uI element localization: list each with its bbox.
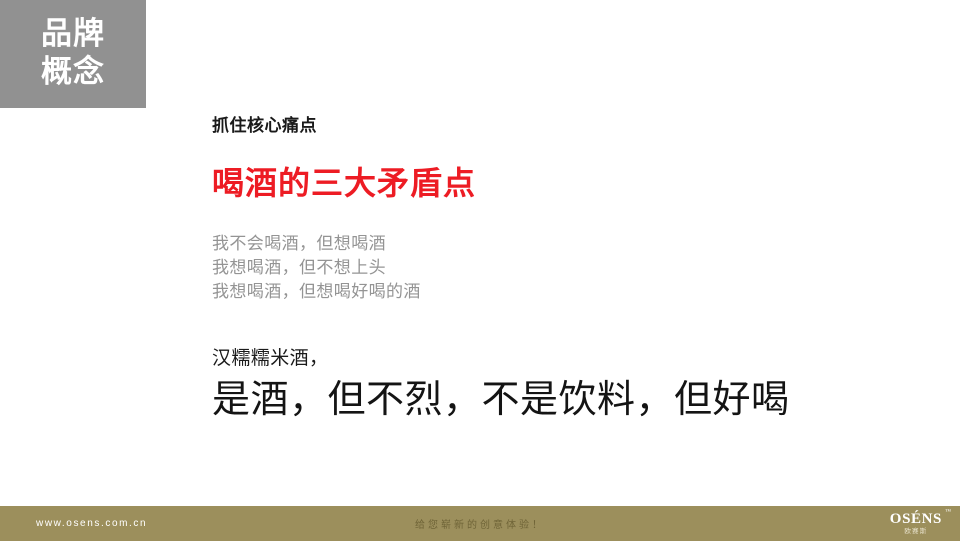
brand-logo-mark: OSÉNS ™ xyxy=(890,512,942,527)
section-badge-line-1: 品牌 xyxy=(41,15,105,53)
content-block: 抓住核心痛点 喝酒的三大矛盾点 我不会喝酒，但想喝酒 我想喝酒，但不想上头 我想… xyxy=(212,108,912,424)
eyebrow-heading: 抓住核心痛点 xyxy=(212,114,912,138)
slide-canvas: 品牌 概念 抓住核心痛点 喝酒的三大矛盾点 我不会喝酒，但想喝酒 我想喝酒，但不… xyxy=(0,0,960,541)
pain-point-list: 我不会喝酒，但想喝酒 我想喝酒，但不想上头 我想喝酒，但想喝好喝的酒 xyxy=(212,232,912,304)
trademark-icon: ™ xyxy=(945,509,951,515)
brand-logo-text: OSÉNS xyxy=(890,511,942,527)
pain-point-item: 我想喝酒，但想喝好喝的酒 xyxy=(212,280,912,304)
footer-bar: www.osens.com.cn 给您崭新的创意体验！ OSÉNS ™ 欧赛斯 xyxy=(0,506,960,541)
pain-point-item: 我想喝酒，但不想上头 xyxy=(212,256,912,280)
section-badge: 品牌 概念 xyxy=(0,0,146,108)
brand-logo-subtitle: 欧赛斯 xyxy=(904,529,927,536)
main-headline: 是酒，但不烈，不是饮料，但好喝 xyxy=(212,377,912,423)
section-badge-line-2: 概念 xyxy=(41,53,105,91)
footer-slogan: 给您崭新的创意体验！ xyxy=(0,516,960,531)
red-headline: 喝酒的三大矛盾点 xyxy=(212,164,912,202)
pain-point-item: 我不会喝酒，但想喝酒 xyxy=(212,232,912,256)
brand-logo: OSÉNS ™ 欧赛斯 xyxy=(890,512,942,536)
product-name-label: 汉糯糯米酒， xyxy=(212,347,912,372)
